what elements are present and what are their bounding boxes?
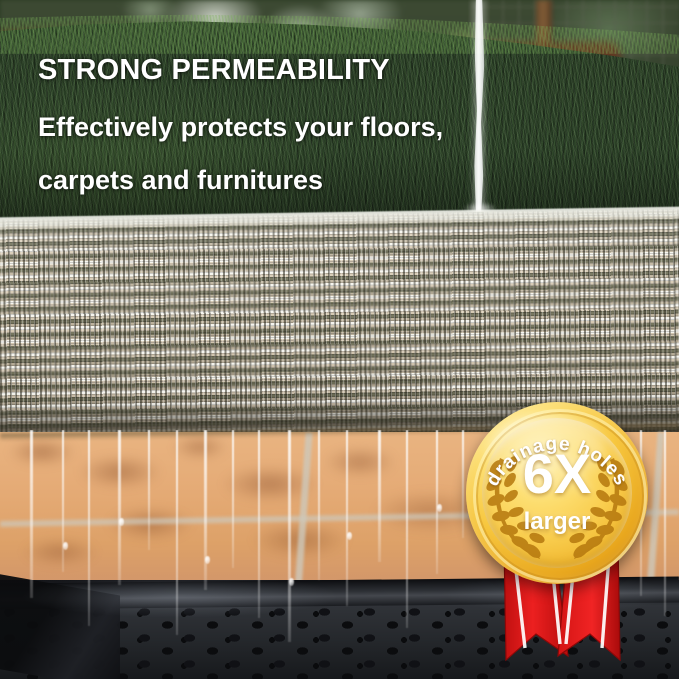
product-image-canvas: STRONG PERMEABILITY Effectively protects… xyxy=(0,0,679,679)
water-drip xyxy=(88,430,90,626)
water-droplet xyxy=(289,578,294,586)
water-droplet xyxy=(119,518,124,526)
water-drip xyxy=(378,430,381,562)
water-drip xyxy=(258,430,260,618)
subheadline-line-2: carpets and furnitures xyxy=(38,165,323,196)
water-drip xyxy=(436,430,438,574)
water-drip xyxy=(288,430,291,642)
page-title: STRONG PERMEABILITY xyxy=(38,54,390,87)
badge-multiplier: 6X xyxy=(466,446,648,502)
water-drip xyxy=(30,430,33,598)
water-drip xyxy=(318,430,320,580)
water-drip xyxy=(462,430,464,538)
water-droplet xyxy=(63,542,68,550)
water-drip xyxy=(118,430,121,585)
water-drip xyxy=(232,430,234,568)
award-badge: drainage holes 6X larger xyxy=(466,402,652,672)
water-drip xyxy=(62,430,64,572)
water-drip xyxy=(406,430,408,628)
water-drip xyxy=(204,430,207,590)
subheadline-line-1: Effectively protects your floors, xyxy=(38,112,443,143)
water-drip xyxy=(176,430,178,635)
water-droplet xyxy=(347,532,352,540)
water-drip xyxy=(346,430,348,606)
water-drip xyxy=(664,430,666,616)
badge-qualifier: larger xyxy=(466,508,648,536)
water-droplet xyxy=(205,556,210,564)
water-droplet xyxy=(437,504,442,512)
water-drip xyxy=(148,430,150,550)
